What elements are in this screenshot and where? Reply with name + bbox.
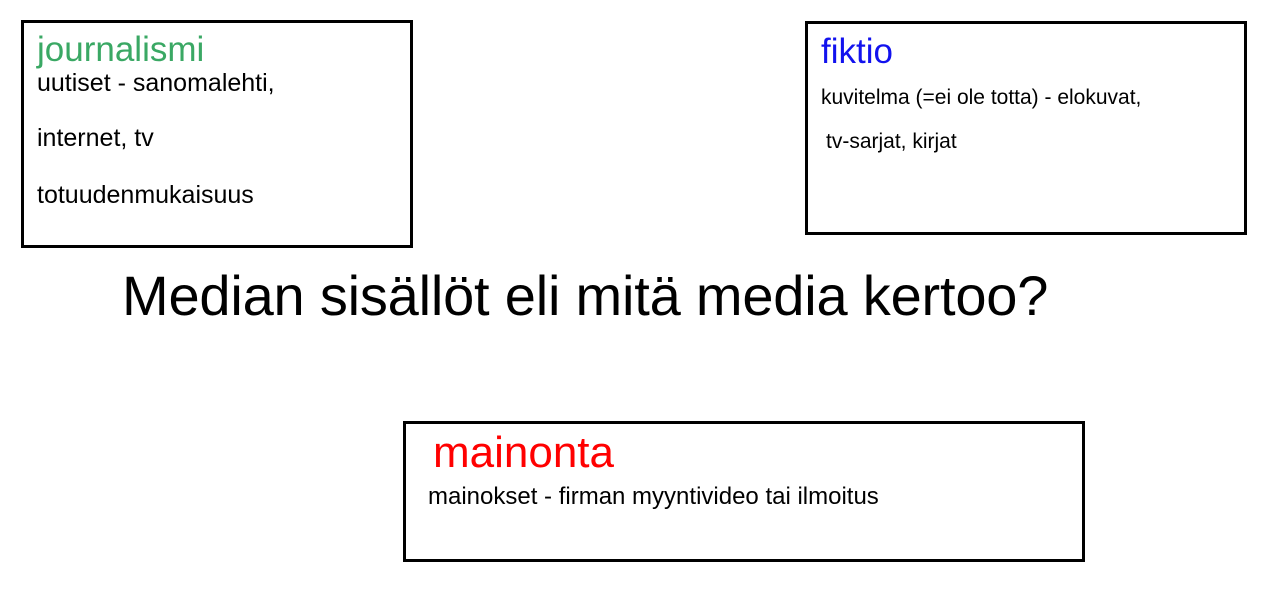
concept-heading-journalismi: journalismi <box>24 23 410 67</box>
concept-line-journalismi-2: internet, tv <box>24 124 410 153</box>
concept-box-fiktio: fiktio kuvitelma (=ei ole totta) - eloku… <box>805 21 1247 235</box>
concept-line-mainonta-1: mainokset - firman myyntivideo tai ilmoi… <box>406 483 1082 511</box>
concept-line-fiktio-2: tv-sarjat, kirjat <box>808 130 1244 154</box>
slide-canvas: journalismi uutiset - sanomalehti, inter… <box>0 0 1280 595</box>
concept-line-journalismi-3: totuudenmukaisuus <box>24 181 410 210</box>
concept-line-fiktio-1: kuvitelma (=ei ole totta) - elokuvat, <box>808 86 1244 110</box>
concept-box-journalismi: journalismi uutiset - sanomalehti, inter… <box>21 20 413 248</box>
concept-box-mainonta: mainonta mainokset - firman myyntivideo … <box>403 421 1085 562</box>
concept-line-journalismi-1: uutiset - sanomalehti, <box>24 69 410 98</box>
page-title: Median sisällöt eli mitä media kertoo? <box>122 266 1048 326</box>
concept-heading-fiktio: fiktio <box>808 24 1244 69</box>
concept-heading-mainonta: mainonta <box>406 424 1082 475</box>
